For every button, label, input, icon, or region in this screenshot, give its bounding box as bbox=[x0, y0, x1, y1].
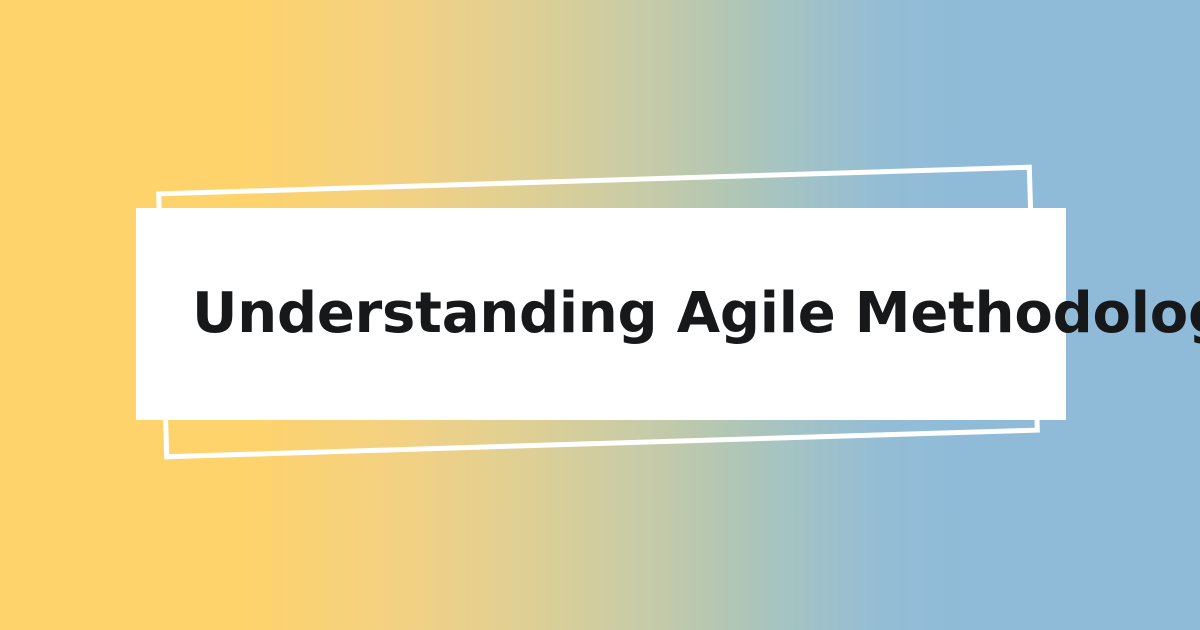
banner-graphic: Understanding Agile Methodology bbox=[0, 0, 1200, 630]
page-title: Understanding Agile Methodology bbox=[192, 283, 1200, 346]
title-card: Understanding Agile Methodology bbox=[136, 208, 1066, 420]
